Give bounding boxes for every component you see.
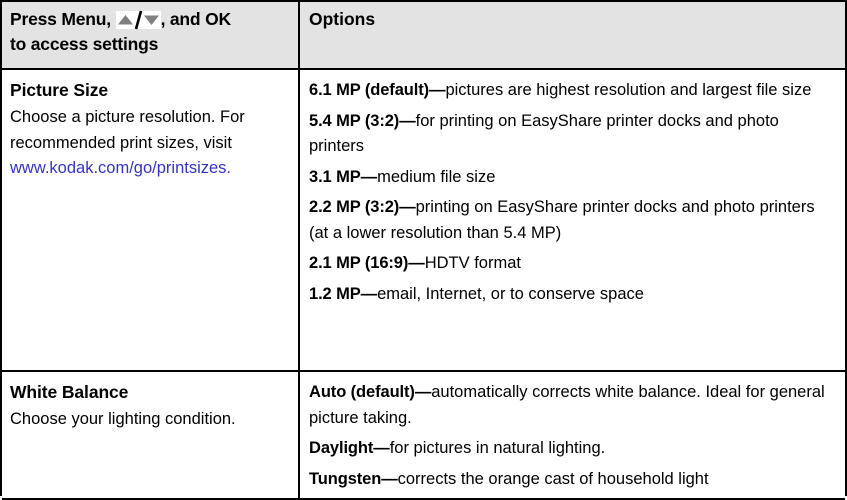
option-item[interactable]: 6.1 MP (default)—pictures are highest re…	[309, 78, 835, 104]
camera-settings-table: Press Menu, , and OK to access settings …	[0, 0, 847, 496]
header-instruction-line-2: to access settings	[10, 32, 292, 57]
option-text: corrects the orange cast of household li…	[398, 470, 709, 488]
option-text: for pictures in natural lighting.	[390, 439, 606, 457]
option-text: medium file size	[377, 168, 495, 186]
setting-options-cell-white-balance: Auto (default)—automatically corrects wh…	[300, 372, 845, 498]
option-dash: —	[381, 470, 397, 488]
option-item[interactable]: 3.1 MP—medium file size	[309, 165, 835, 191]
slash-separator-icon	[134, 10, 143, 30]
header-instruction-line-1: Press Menu, , and OK	[10, 7, 292, 32]
option-dash: —	[399, 198, 415, 216]
option-term: 6.1 MP (default)	[309, 81, 429, 99]
option-dash: —	[361, 168, 377, 186]
option-dash: —	[361, 285, 377, 303]
option-term: 3.1 MP	[309, 168, 361, 186]
printsizes-link[interactable]: www.kodak.com/go/printsizes.	[10, 159, 231, 177]
setting-options-cell-picture-size: 6.1 MP (default)—pictures are highest re…	[300, 70, 845, 370]
option-item[interactable]: Auto (default)—automatically corrects wh…	[309, 380, 835, 431]
header-cell-options: Options	[300, 2, 845, 68]
option-text: HDTV format	[425, 254, 521, 272]
triangle-up-icon	[117, 12, 134, 28]
header-options-label: Options	[309, 7, 837, 32]
setting-name-cell-picture-size: Picture Size Choose a picture resolution…	[2, 70, 300, 370]
option-term: Auto (default)	[309, 383, 415, 401]
option-dash: —	[408, 254, 424, 272]
option-text: pictures are highest resolution and larg…	[445, 81, 811, 99]
setting-title: Picture Size	[10, 78, 288, 102]
option-term: 2.2 MP (3:2)	[309, 198, 399, 216]
header-cell-instructions: Press Menu, , and OK to access settings	[2, 2, 300, 68]
setting-description: Choose a picture resolution. For recomme…	[10, 105, 288, 182]
option-term: 5.4 MP (3:2)	[309, 112, 399, 130]
option-term: 1.2 MP	[309, 285, 361, 303]
setting-description: Choose your lighting condition.	[10, 407, 288, 433]
option-term: 2.1 MP (16:9)	[309, 254, 408, 272]
option-item[interactable]: 2.1 MP (16:9)—HDTV format	[309, 251, 835, 277]
header-instruction-prefix: Press Menu,	[10, 9, 111, 29]
setting-title: White Balance	[10, 380, 288, 404]
option-item[interactable]: 5.4 MP (3:2)—for printing on EasyShare p…	[309, 109, 835, 160]
option-dash: —	[429, 81, 445, 99]
setting-description-line-2: recommended print sizes, visit	[10, 134, 232, 152]
triangle-down-icon	[143, 12, 160, 28]
option-item[interactable]: Tungsten—corrects the orange cast of hou…	[309, 467, 835, 493]
header-instruction-suffix: , and OK	[161, 9, 231, 29]
option-item[interactable]: 2.2 MP (3:2)—printing on EasyShare print…	[309, 195, 835, 246]
option-term: Tungsten	[309, 470, 381, 488]
table-row: White Balance Choose your lighting condi…	[2, 372, 845, 500]
setting-description-line-1: Choose a picture resolution. For	[10, 108, 245, 126]
table-row: Picture Size Choose a picture resolution…	[2, 70, 845, 372]
table-header-row: Press Menu, , and OK to access settings …	[2, 2, 845, 70]
nav-arrows-icon-group	[116, 11, 161, 29]
option-item[interactable]: 1.2 MP—email, Internet, or to conserve s…	[309, 282, 835, 308]
option-dash: —	[415, 383, 431, 401]
option-text: email, Internet, or to conserve space	[377, 285, 644, 303]
option-item[interactable]: Daylight—for pictures in natural lightin…	[309, 436, 835, 462]
option-dash: —	[373, 439, 389, 457]
setting-name-cell-white-balance: White Balance Choose your lighting condi…	[2, 372, 300, 498]
option-term: Daylight	[309, 439, 373, 457]
option-dash: —	[399, 112, 415, 130]
